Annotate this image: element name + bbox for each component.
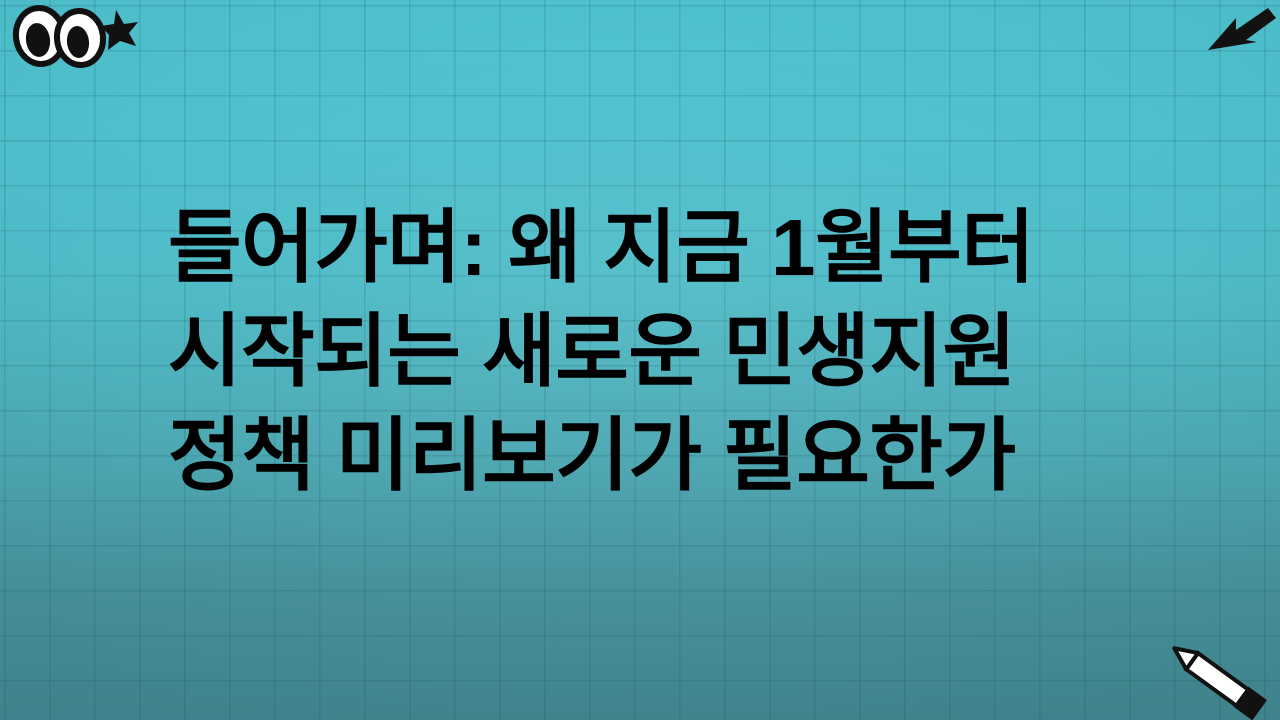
thumbnail-card: 들어가며: 왜 지금 1월부터 시작되는 새로운 민생지원 정책 미리보기가 필… xyxy=(0,0,1280,720)
pencil-icon xyxy=(1158,640,1278,720)
arrow-icon xyxy=(1202,2,1280,63)
page-title: 들어가며: 왜 지금 1월부터 시작되는 새로운 민생지원 정책 미리보기가 필… xyxy=(168,196,1128,508)
title-line-1: 들어가며: 왜 지금 1월부터 xyxy=(168,196,1128,300)
eyes-star-icon xyxy=(8,0,138,85)
title-line-2: 시작되는 새로운 민생지원 xyxy=(168,300,1128,404)
title-line-3: 정책 미리보기가 필요한가 xyxy=(168,404,1128,508)
